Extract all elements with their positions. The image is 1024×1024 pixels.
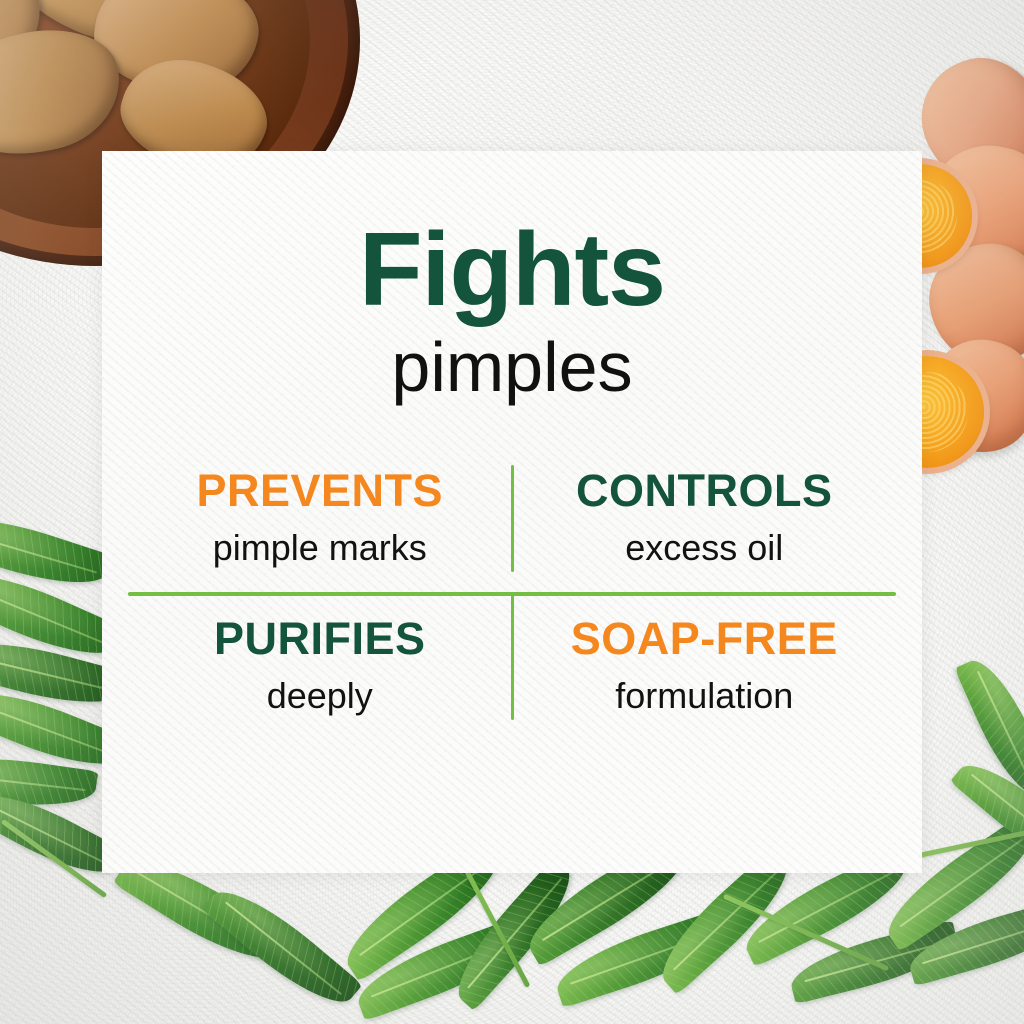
benefit-title: CONTROLS <box>576 467 833 516</box>
benefit-item-prevents: PREVENTS pimple marks <box>128 457 512 586</box>
benefit-subtitle: formulation <box>615 676 793 716</box>
benefit-title: SOAP-FREE <box>571 615 838 664</box>
page-title: Fights <box>359 217 665 323</box>
benefit-title: PURIFIES <box>214 615 426 664</box>
benefit-item-controls: CONTROLS excess oil <box>513 457 897 586</box>
benefits-grid: PREVENTS pimple marks CONTROLS excess oi… <box>128 457 896 734</box>
benefit-title: PREVENTS <box>196 467 443 516</box>
benefit-subtitle: pimple marks <box>213 528 427 568</box>
benefit-item-purifies: PURIFIES deeply <box>128 587 512 734</box>
benefit-subtitle: deeply <box>267 676 373 716</box>
page-subtitle: pimples <box>391 331 632 405</box>
benefit-item-soap-free: SOAP-FREE formulation <box>513 587 897 734</box>
product-benefit-graphic: Fights pimples PREVENTS pimple marks CON… <box>0 0 1024 1024</box>
benefits-card: Fights pimples PREVENTS pimple marks CON… <box>102 151 922 873</box>
benefit-subtitle: excess oil <box>625 528 783 568</box>
